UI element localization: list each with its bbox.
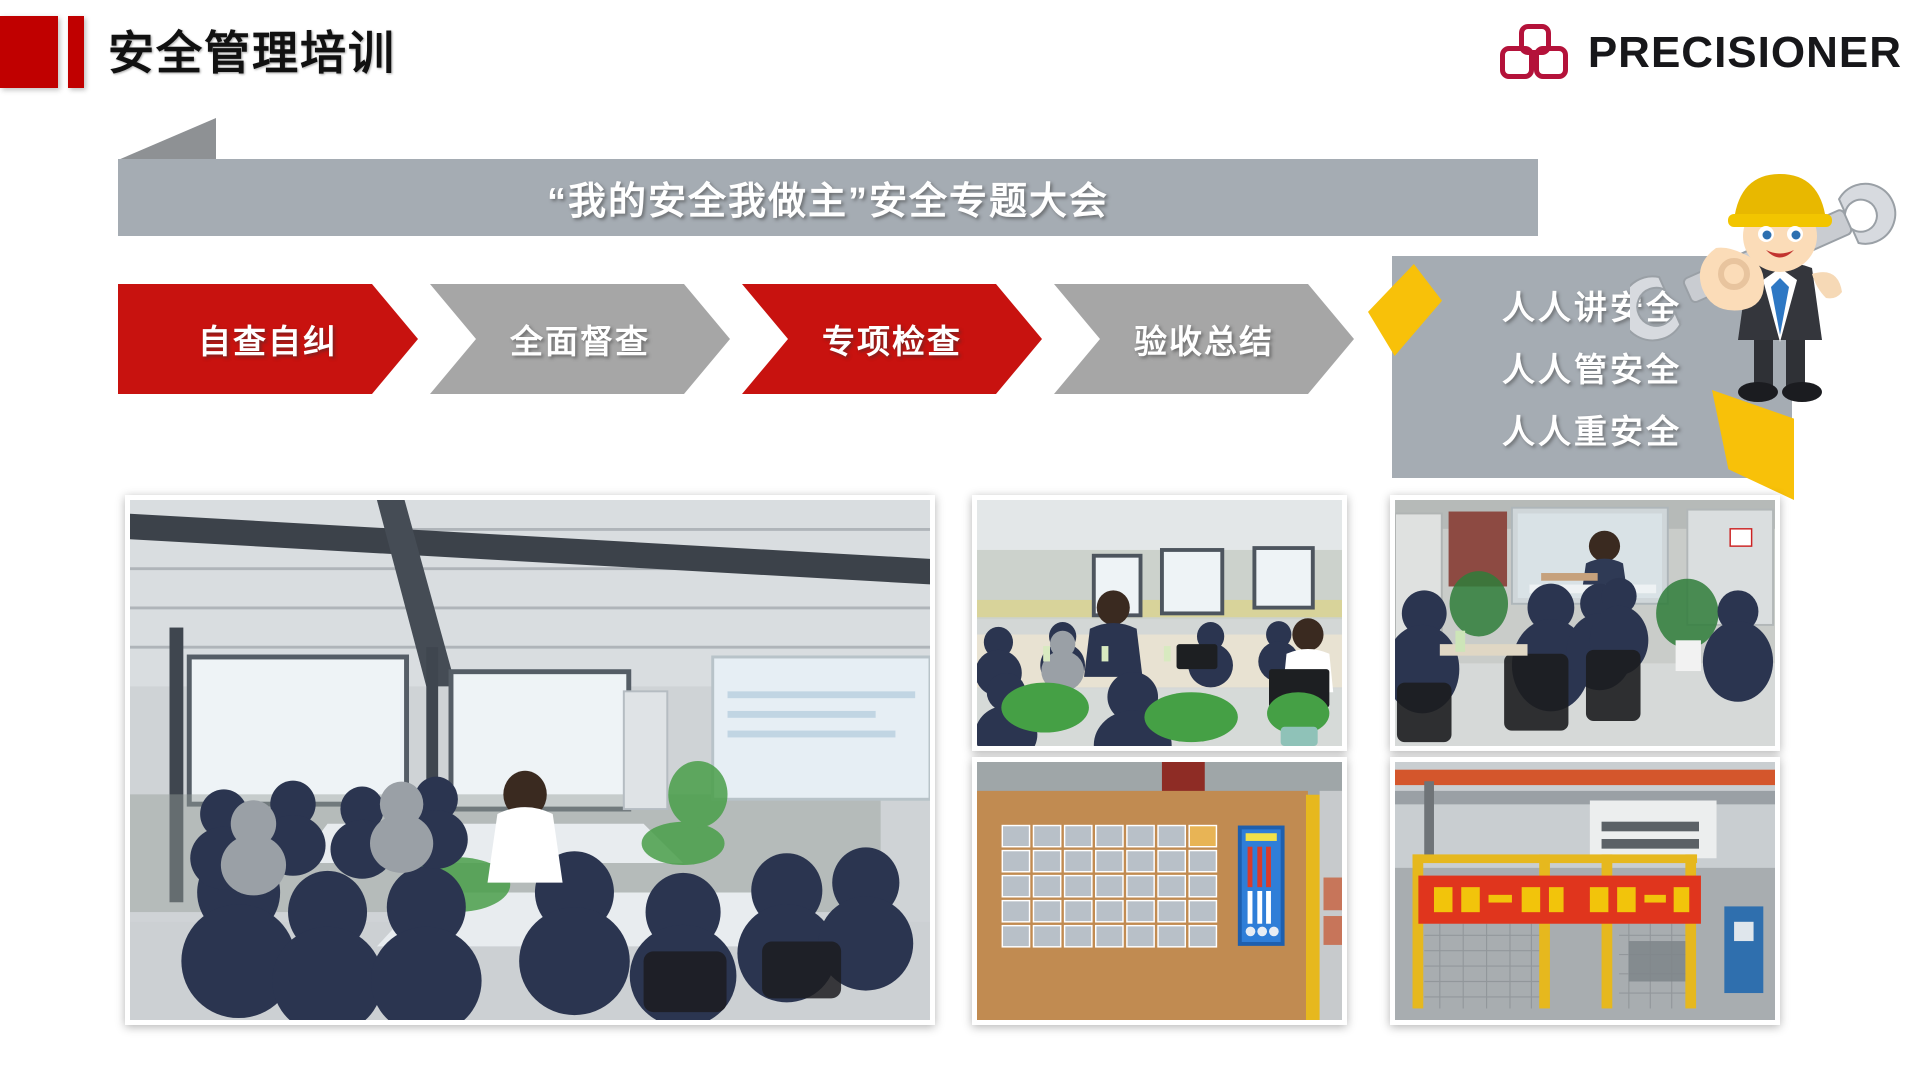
interlocking-squares-logo-icon xyxy=(1500,24,1570,82)
page-title: 安全管理培训 xyxy=(108,22,396,84)
photo-factory-banner xyxy=(1390,757,1780,1025)
process-step-1[interactable]: 自查自纠 xyxy=(118,284,418,394)
slide-root: 安全管理培训 PRECISIONER “我的安全我做主”安全专题大会 自查自纠 … xyxy=(0,0,1920,1080)
process-step-2[interactable]: 全面督查 xyxy=(430,284,730,394)
banner-title: “我的安全我做主”安全专题大会 xyxy=(118,159,1538,236)
photo-meeting-speaker xyxy=(972,495,1347,751)
process-step-3[interactable]: 专项检查 xyxy=(742,284,1042,394)
photo-video-training xyxy=(1390,495,1780,751)
brand-logo: PRECISIONER xyxy=(1500,24,1902,82)
photo-meeting-large xyxy=(125,495,935,1025)
photo-bulletin-board xyxy=(972,757,1347,1025)
event-banner: “我的安全我做主”安全专题大会 xyxy=(118,118,1538,236)
process-chevron-row: 自查自纠 全面督查 专项检查 验收总结 xyxy=(118,284,1378,394)
header-accent-block-large xyxy=(0,16,58,88)
safety-worker-mascot-icon xyxy=(1630,128,1920,428)
brand-name: PRECISIONER xyxy=(1588,28,1902,78)
slide-header: 安全管理培训 PRECISIONER xyxy=(0,0,1920,112)
header-accent-block-small xyxy=(68,16,84,88)
process-step-4[interactable]: 验收总结 xyxy=(1054,284,1354,394)
banner-fold-decoration xyxy=(118,118,216,160)
